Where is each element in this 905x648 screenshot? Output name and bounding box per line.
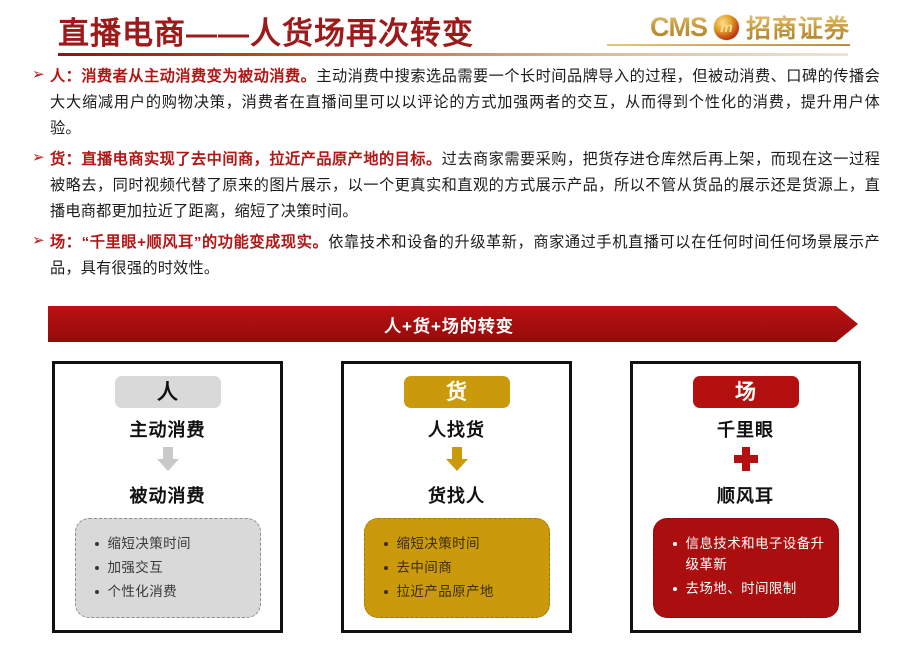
card-step-to: 货找人 [428,482,485,508]
list-item: 信息技术和电子设备升级革新 [686,533,828,575]
bullet-label: 场： [50,234,82,251]
logo-emblem-icon: m [714,15,739,40]
section-banner: 人+货+场的转变 [48,306,858,342]
card-step-to: 顺风耳 [717,482,774,508]
list-item: 加强交互 [108,557,250,578]
bullet-item-chang: ➢ 场：“千里眼+顺风耳”的功能变成现实。依靠技术和设备的升级革新，商家通过手机… [32,230,880,282]
card-step-from: 千里眼 [717,416,774,442]
card-points-list: 信息技术和电子设备升级革新 去场地、时间限制 [668,533,828,599]
card-huo: 货 人找货 货找人 缩短决策时间 去中间商 拉近产品原产地 [341,361,572,633]
plus-icon [733,446,759,472]
page-title: 直播电商——人货场再次转变 [58,8,474,53]
card-points-panel: 信息技术和电子设备升级革新 去场地、时间限制 [653,518,839,618]
card-points-list: 缩短决策时间 去中间商 拉近产品原产地 [379,533,539,602]
slide-header: 直播电商——人货场再次转变 CMS m 招商证券 [0,0,905,58]
bullet-highlight: “千里眼+顺风耳”的功能变成现实。 [82,234,329,251]
bullet-list: ➢ 人：消费者从主动消费变为被动消费。主动消费中搜索选品需要一个长时间品牌导入的… [32,64,880,287]
logo-underline [607,44,850,46]
bullet-highlight: 直播电商实现了去中间商，拉近产品原产地的目标。 [81,151,441,168]
arrowhead-bullet-icon: ➢ [32,231,45,251]
list-item: 缩短决策时间 [397,533,539,554]
card-badge: 货 [404,376,510,408]
slide-root: 直播电商——人货场再次转变 CMS m 招商证券 ➢ 人：消费者从主动消费变为被… [0,0,905,648]
bullet-highlight: 消费者从主动消费变为被动消费。 [81,68,316,85]
list-item: 拉近产品原产地 [397,581,539,602]
card-ren: 人 主动消费 被动消费 缩短决策时间 加强交互 个性化消费 [52,361,283,633]
logo-chinese-text: 招商证券 [746,9,850,45]
card-step-from: 人找货 [428,416,485,442]
bullet-item-huo: ➢ 货：直播电商实现了去中间商，拉近产品原产地的目标。过去商家需要采购，把货存进… [32,147,880,225]
down-arrow-icon [444,446,470,472]
company-logo: CMS m 招商证券 [650,9,850,45]
bullet-label: 人： [50,68,81,85]
card-row: 人 主动消费 被动消费 缩短决策时间 加强交互 个性化消费 货 人找货 货找人 [0,361,905,636]
card-step-from: 主动消费 [130,416,206,442]
section-banner-label: 人+货+场的转变 [384,312,514,337]
card-chang: 场 千里眼 顺风耳 信息技术和电子设备升级革新 去场地、时间限制 [630,361,861,633]
list-item: 去场地、时间限制 [686,578,828,599]
bullet-item-ren: ➢ 人：消费者从主动消费变为被动消费。主动消费中搜索选品需要一个长时间品牌导入的… [32,64,880,142]
card-step-to: 被动消费 [130,482,206,508]
card-points-list: 缩短决策时间 加强交互 个性化消费 [90,533,250,602]
down-arrow-icon [155,446,181,472]
logo-cms-text: CMS [650,12,707,43]
header-divider [58,53,848,56]
arrowhead-bullet-icon: ➢ [32,148,45,168]
list-item: 个性化消费 [108,581,250,602]
card-points-panel: 缩短决策时间 去中间商 拉近产品原产地 [364,518,550,618]
list-item: 去中间商 [397,557,539,578]
arrowhead-bullet-icon: ➢ [32,65,45,85]
list-item: 缩短决策时间 [108,533,250,554]
card-points-panel: 缩短决策时间 加强交互 个性化消费 [75,518,261,618]
card-badge: 人 [115,376,221,408]
card-badge: 场 [693,376,799,408]
bullet-label: 货： [50,151,81,168]
